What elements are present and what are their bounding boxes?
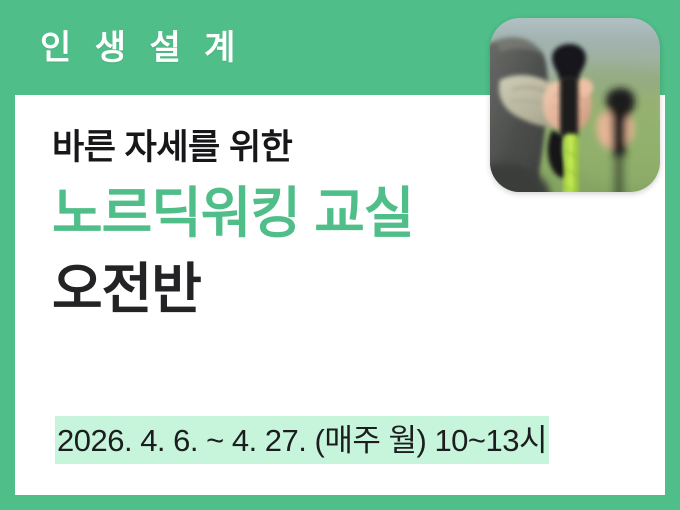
session-label: 오전반 bbox=[52, 259, 413, 321]
poster-root: 인 생 설 계 bbox=[0, 0, 680, 510]
text-block: 바른 자세를 위한 노르딕워킹 교실 오전반 bbox=[52, 128, 413, 320]
photo-illustration bbox=[490, 18, 660, 192]
category-label: 인 생 설 계 bbox=[0, 31, 242, 65]
schedule-text: 2026. 4. 6. ~ 4. 27. (매주 월) 10~13시 bbox=[57, 425, 547, 456]
category-header-tab: 인 생 설 계 bbox=[0, 0, 285, 95]
nordic-walking-poles-photo bbox=[490, 18, 660, 192]
program-title: 노르딕워킹 교실 bbox=[52, 183, 413, 245]
eyebrow-line: 바른 자세를 위한 bbox=[52, 128, 413, 167]
schedule-highlight-band: 2026. 4. 6. ~ 4. 27. (매주 월) 10~13시 bbox=[55, 416, 549, 464]
